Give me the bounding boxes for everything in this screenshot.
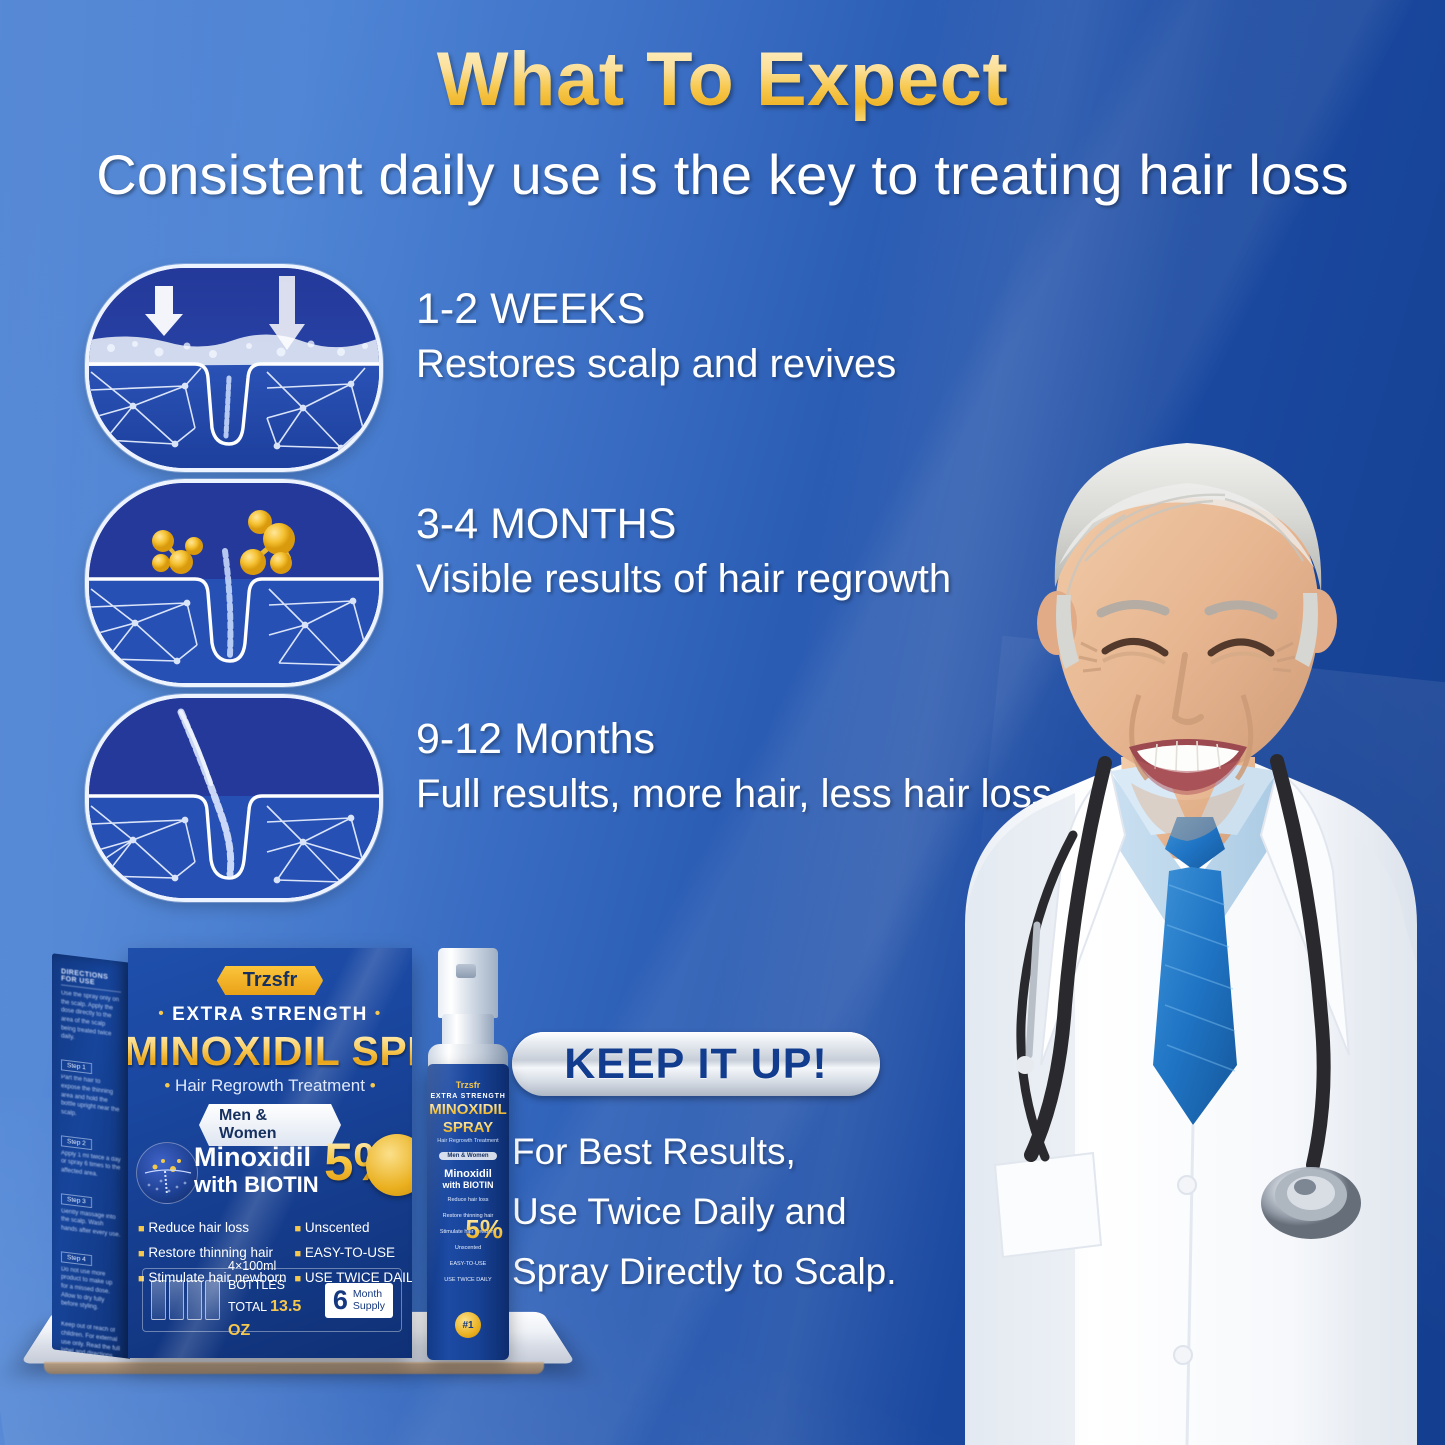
dot-left-icon: • — [164, 1076, 170, 1095]
directions-step-label: Step 1 — [61, 1059, 92, 1074]
benefit-label: EASY-TO-USE — [305, 1245, 395, 1260]
vial-icon — [187, 1280, 202, 1320]
carton-side-panel: DIRECTIONS FOR USE Use the spray only on… — [52, 953, 130, 1359]
carton-molecule-graphic — [136, 1142, 198, 1204]
bottle-neck — [442, 1014, 494, 1048]
supply-line-2: Supply — [353, 1300, 385, 1312]
keep-it-up-label: KEEP IT UP! — [564, 1040, 827, 1089]
poster-canvas: What To Expect Consistent daily use is t… — [0, 0, 1445, 1445]
scalp-molecules-icon — [85, 479, 383, 687]
directions-step-label: Step 2 — [61, 1135, 92, 1150]
directions-heading: DIRECTIONS FOR USE — [61, 968, 121, 992]
bottle-percent: 5% — [465, 1214, 503, 1245]
pack-total-label: TOTAL — [228, 1300, 267, 1314]
supply-badge: 6 Month Supply — [325, 1283, 393, 1318]
pack-text: 4×100ml BOTTLES TOTAL 13.5 OZ — [228, 1257, 317, 1343]
bottle-benefit-item: USE TWICE DAILY — [427, 1276, 509, 1286]
bottle-cap — [438, 948, 498, 1018]
vial-icon — [205, 1280, 220, 1320]
timeline-heading: 1-2 WEEKS — [416, 284, 896, 335]
vial-icon — [169, 1280, 184, 1320]
product-shot: DIRECTIONS FOR USE Use the spray only on… — [26, 930, 586, 1410]
carton-extra-strength-label: EXTRA STRENGTH — [172, 1004, 368, 1025]
carton-treatment-line: • Hair Regrowth Treatment • — [128, 1076, 412, 1096]
directions-step-text: Part the hair to expose the thinning are… — [61, 1073, 121, 1124]
bottle-name-line2: SPRAY — [427, 1120, 509, 1136]
carton-treatment-label: Hair Regrowth Treatment — [175, 1076, 365, 1095]
dot-left-icon: • — [158, 1005, 165, 1022]
scalp-hair-growth-icon — [85, 694, 383, 902]
dot-right-icon: • — [375, 1005, 382, 1022]
bottle-benefit-item: EASY-TO-USE — [427, 1260, 509, 1270]
directions-step-text: Apply 1 ml twice a day or spray 6 times … — [61, 1149, 121, 1182]
directions-step-text: Do not use more product to make up for a… — [61, 1265, 121, 1316]
carton-audience: Men & Women — [199, 1104, 341, 1146]
benefit-label: Unscented — [305, 1220, 370, 1235]
bullet-icon: ■ — [295, 1223, 302, 1235]
directions-step-label: Step 4 — [61, 1251, 92, 1266]
pack-bottles: 4×100ml BOTTLES — [228, 1257, 317, 1295]
bottle-rank-badge: #1 — [455, 1312, 481, 1338]
carton-pack-info: 4×100ml BOTTLES TOTAL 13.5 OZ 6 Month Su… — [142, 1268, 402, 1332]
product-carton: DIRECTIONS FOR USE Use the spray only on… — [52, 948, 412, 1348]
scalp-absorption-icon — [85, 264, 383, 472]
carton-active-line1: Minoxidil — [194, 1144, 319, 1171]
carton-extra-strength: • EXTRA STRENGTH • — [128, 1004, 412, 1026]
directions-intro: Use the spray only on the scalp. Apply t… — [61, 989, 121, 1048]
vial-row-icon — [151, 1280, 220, 1320]
smiling-doctor-photo — [925, 365, 1445, 1445]
vial-icon — [151, 1280, 166, 1320]
timeline-item-text: 3-4 MONTHS Visible results of hair regro… — [416, 499, 951, 604]
supply-text: Month Supply — [353, 1288, 385, 1313]
timeline-heading: 3-4 MONTHS — [416, 499, 951, 550]
carton-active-block: Minoxidil with BIOTIN — [194, 1144, 319, 1197]
benefit-item: ■ Unscented — [295, 1216, 413, 1241]
carton-brand: Trzsfr — [217, 966, 323, 995]
carton-active-line2: with BIOTIN — [194, 1173, 319, 1197]
bullet-icon: ■ — [138, 1248, 145, 1260]
timeline-item-text: 1-2 WEEKS Restores scalp and revives — [416, 284, 896, 389]
bottle-active-line1: Minoxidil — [427, 1168, 509, 1180]
benefit-label: Reduce hair loss — [148, 1220, 249, 1235]
dot-right-icon: • — [370, 1076, 376, 1095]
bottle-extra-strength: EXTRA STRENGTH — [427, 1093, 509, 1100]
benefit-item: ■ Reduce hair loss — [138, 1216, 287, 1241]
pack-total-row: TOTAL 13.5 OZ — [228, 1295, 317, 1343]
bottle-active-line2: with BIOTIN — [427, 1180, 509, 1190]
bottle-label: Trzsfr EXTRA STRENGTH MINOXIDIL SPRAY Ha… — [427, 1064, 509, 1360]
page-title: What To Expect — [0, 36, 1445, 123]
supply-number: 6 — [333, 1287, 348, 1314]
product-bottle: Trzsfr EXTRA STRENGTH MINOXIDIL SPRAY Ha… — [420, 948, 516, 1368]
supply-line-1: Month — [353, 1288, 385, 1300]
page-subtitle: Consistent daily use is the key to treat… — [0, 142, 1445, 207]
bottle-benefit-item: Unscented — [427, 1244, 509, 1254]
carton-product-name: MINOXIDIL SPRAY — [128, 1028, 412, 1075]
bottle-name-line1: MINOXIDIL — [427, 1102, 509, 1118]
carton-front-panel: Trzsfr • EXTRA STRENGTH • MINOXIDIL SPRA… — [128, 948, 412, 1358]
bottle-brand: Trzsfr — [427, 1080, 509, 1090]
bullet-icon: ■ — [138, 1223, 145, 1235]
directions-step-label: Step 3 — [61, 1193, 92, 1208]
directions-step-text: Gently massage into the scalp. Wash hand… — [61, 1207, 121, 1240]
timeline-description: Restores scalp and revives — [416, 339, 896, 389]
timeline-description: Visible results of hair regrowth — [416, 554, 951, 604]
bottle-benefit-item: Reduce hair loss — [427, 1196, 509, 1206]
bottle-audience: Men & Women — [439, 1152, 496, 1160]
bottle-treatment-line: Hair Regrowth Treatment — [427, 1138, 509, 1144]
